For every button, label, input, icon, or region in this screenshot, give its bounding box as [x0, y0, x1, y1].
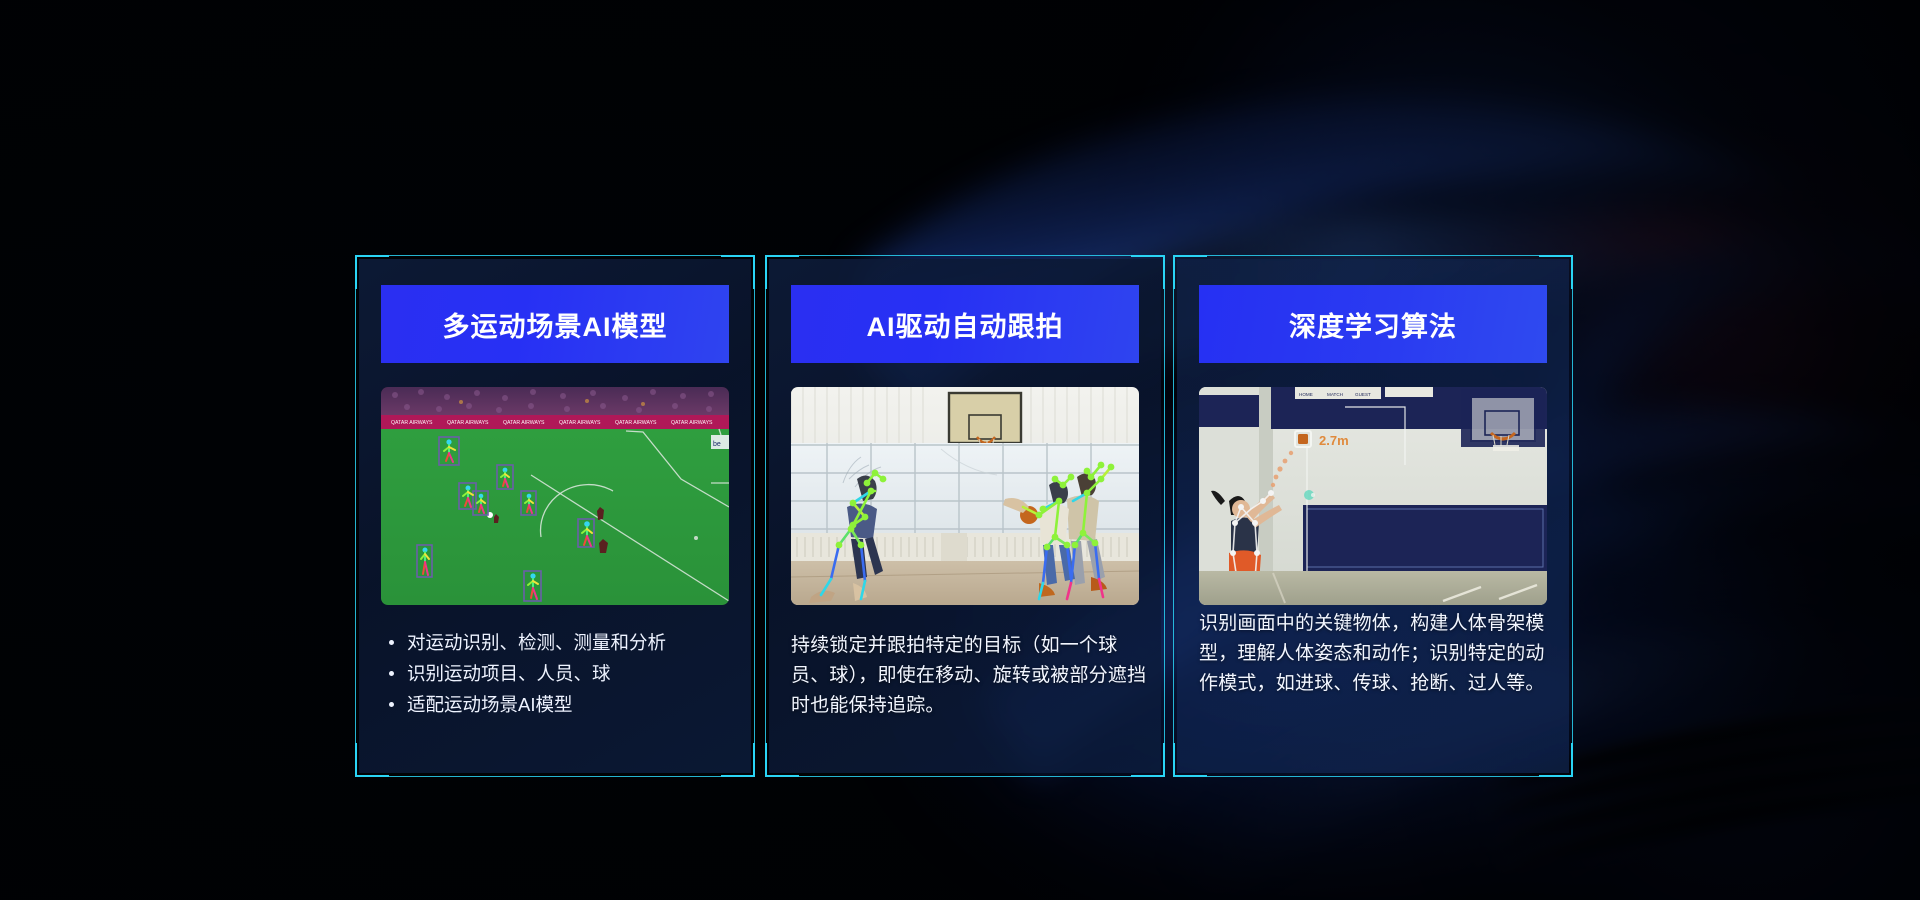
- card-edge-right: [1572, 285, 1573, 747]
- svg-text:GUEST: GUEST: [1355, 392, 1371, 397]
- svg-text:QATAR AIRWAYS: QATAR AIRWAYS: [503, 420, 545, 426]
- card-body: 识别画面中的关键物体，构建人体骨架模型，理解人体姿态和动作；识别特定的动作模式，…: [1199, 609, 1555, 699]
- card-header: 深度学习算法: [1199, 285, 1547, 363]
- card-body: 对运动识别、检测、测量和分析 识别运动项目、人员、球 适配运动场景AI模型: [381, 627, 737, 720]
- list-item: 适配运动场景AI模型: [381, 689, 737, 720]
- feature-card-deep-learning-algorithm[interactable]: 深度学习算法: [1177, 259, 1569, 773]
- svg-text:HOME: HOME: [1299, 392, 1313, 397]
- corner-bracket-top-right: [1131, 255, 1165, 289]
- corner-bracket-top-right: [1539, 255, 1573, 289]
- list-item: 识别运动项目、人员、球: [381, 658, 737, 689]
- feature-card-multi-sport-ai-model[interactable]: 多运动场景AI模型: [359, 259, 751, 773]
- card-edge-bottom: [795, 776, 1135, 777]
- card-description: 持续锁定并跟拍特定的目标（如一个球员、球），即使在移动、旋转或被部分遮挡时也能保…: [791, 631, 1147, 721]
- card-body: 持续锁定并跟拍特定的目标（如一个球员、球），即使在移动、旋转或被部分遮挡时也能保…: [791, 631, 1147, 721]
- card-edge-left: [1173, 285, 1174, 747]
- svg-text:QATAR AIRWAYS: QATAR AIRWAYS: [391, 420, 433, 426]
- svg-text:QATAR AIRWAYS: QATAR AIRWAYS: [559, 420, 601, 426]
- card-edge-top: [385, 255, 725, 256]
- feature-bullet-list: 对运动识别、检测、测量和分析 识别运动项目、人员、球 适配运动场景AI模型: [381, 627, 737, 720]
- card-title: AI驱动自动跟拍: [867, 305, 1064, 344]
- corner-bracket-top-right: [721, 255, 755, 289]
- svg-text:QATAR AIRWAYS: QATAR AIRWAYS: [447, 420, 489, 426]
- corner-bracket-bottom-left: [355, 743, 389, 777]
- card-edge-bottom: [385, 776, 725, 777]
- corner-bracket-bottom-right: [1539, 743, 1573, 777]
- corner-bracket-top-left: [765, 255, 799, 289]
- feature-card-ai-auto-tracking[interactable]: AI驱动自动跟拍: [769, 259, 1161, 773]
- card-edge-left: [355, 285, 356, 747]
- corner-bracket-top-left: [1173, 255, 1207, 289]
- corner-bracket-bottom-left: [1173, 743, 1207, 777]
- card-edge-top: [1203, 255, 1543, 256]
- distance-label: 2.7m: [1319, 433, 1349, 448]
- svg-text:MATCH: MATCH: [1327, 392, 1343, 397]
- indoor-basketball-pose-thumbnail[interactable]: [791, 387, 1139, 605]
- list-item: 对运动识别、检测、测量和分析: [381, 627, 737, 658]
- card-edge-right: [754, 285, 755, 747]
- card-edge-right: [1164, 285, 1165, 747]
- card-edge-top: [795, 255, 1135, 256]
- corner-bracket-bottom-left: [765, 743, 799, 777]
- corner-bracket-top-left: [355, 255, 389, 289]
- corner-bracket-bottom-right: [1131, 743, 1165, 777]
- card-edge-bottom: [1203, 776, 1543, 777]
- card-edge-left: [765, 285, 766, 747]
- card-header: 多运动场景AI模型: [381, 285, 729, 363]
- card-title: 多运动场景AI模型: [443, 305, 668, 344]
- card-title: 深度学习算法: [1289, 305, 1457, 344]
- corner-bracket-bottom-right: [721, 743, 755, 777]
- svg-text:QATAR AIRWAYS: QATAR AIRWAYS: [615, 420, 657, 426]
- card-description: 识别画面中的关键物体，构建人体骨架模型，理解人体姿态和动作；识别特定的动作模式，…: [1199, 609, 1555, 699]
- ball-trajectory-tracking-thumbnail[interactable]: HOMEMATCHGUEST: [1199, 387, 1547, 605]
- card-header: AI驱动自动跟拍: [791, 285, 1139, 363]
- svg-text:QATAR AIRWAYS: QATAR AIRWAYS: [671, 420, 713, 426]
- soccer-field-detection-thumbnail[interactable]: QATAR AIRWAYS QATAR AIRWAYS QATAR AIRWAY…: [381, 387, 729, 605]
- svg-text:be: be: [713, 441, 721, 448]
